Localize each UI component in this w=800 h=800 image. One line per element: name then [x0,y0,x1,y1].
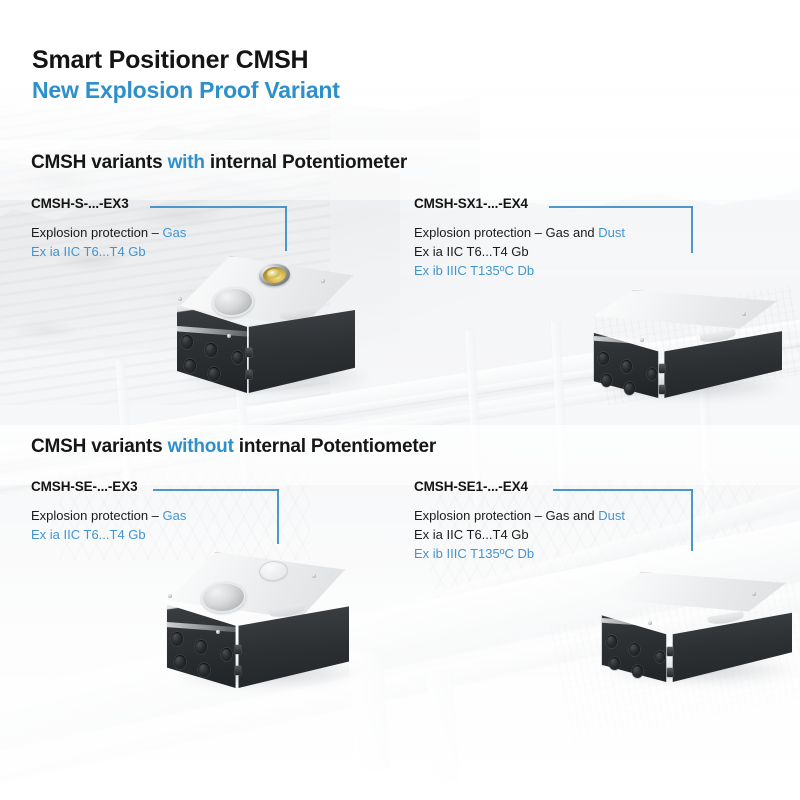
section-heading-without-potentiometer: CMSH variants without internal Potentiom… [31,436,436,458]
device-screw [321,279,325,283]
protection-value: Dust [598,508,625,523]
device-screw [216,630,220,634]
variant-marking-2: Ex ib IIIC T135ºC Db [414,544,625,563]
device-screw [648,621,652,625]
device-terminal-clip [246,370,252,379]
section-heading-pre: CMSH variants [31,436,168,457]
device-screw [227,334,231,338]
variant-code: CMSH-S-...-EX3 [31,196,186,211]
device-terminal-clip [235,666,241,675]
protection-label: Explosion protection – Gas and [414,225,598,240]
device-screw [178,297,182,301]
section-heading-highlight: without [168,436,234,457]
device-terminal-clip [667,668,673,677]
title-subtitle: New Explosion Proof Variant [32,77,340,105]
variant-protection-line: Explosion protection – Gas and Dust [414,506,625,525]
protection-label: Explosion protection – [31,508,163,523]
protection-value: Gas [163,225,187,240]
section-heading-highlight: with [168,152,205,173]
variant-protection-line: Explosion protection – Gas [31,223,186,242]
product-image-cmsh-s-ex3 [175,248,375,393]
product-image-cmsh-se1-ex4 [600,572,800,684]
section-heading-post: internal Potentiometer [234,436,436,457]
variant-spec-lines: Explosion protection – Gas Ex ia IIC T6.… [31,506,186,544]
device-terminal-clip [659,364,665,373]
section-heading-post: internal Potentiometer [205,152,407,173]
variant-spec-lines: Explosion protection – Gas and Dust Ex i… [414,506,625,564]
variant-protection-line: Explosion protection – Gas and Dust [414,223,625,242]
variant-code: CMSH-SE-...-EX3 [31,479,186,494]
device-terminal-clip [659,385,665,394]
variant-spec-lines: Explosion protection – Gas and Dust Ex i… [414,223,625,281]
variant-label-cmsh-sx1-ex4: CMSH-SX1-...-EX4 Explosion protection – … [414,196,625,281]
poster-canvas: Smart Positioner CMSH New Explosion Proo… [0,0,800,800]
title-main: Smart Positioner CMSH [32,46,340,76]
variant-code: CMSH-SE1-...-EX4 [414,479,625,494]
device-terminal-clip [235,645,241,654]
protection-label: Explosion protection – [31,225,163,240]
device-screw [168,594,172,598]
variant-label-cmsh-se1-ex4: CMSH-SE1-...-EX4 Explosion protection – … [414,479,625,564]
poster-title: Smart Positioner CMSH New Explosion Proo… [32,46,340,104]
section-heading-with-potentiometer: CMSH variants with internal Potentiomete… [31,152,407,174]
device-screw [742,312,746,316]
variant-marking-1: Ex ia IIC T6...T4 Gb [414,525,625,544]
device-screw [752,592,756,596]
variant-code: CMSH-SX1-...-EX4 [414,196,625,211]
device-terminal-clip [667,647,673,656]
variant-marking-1: Ex ia IIC T6...T4 Gb [31,242,186,261]
protection-value: Gas [163,508,187,523]
device-terminal-clip [246,348,252,357]
variant-spec-lines: Explosion protection – Gas Ex ia IIC T6.… [31,223,186,261]
variant-marking-1: Ex ia IIC T6...T4 Gb [414,242,625,261]
product-image-cmsh-sx1-ex4 [592,290,792,400]
protection-label: Explosion protection – Gas and [414,508,598,523]
device-screw [312,574,316,578]
variant-marking-2: Ex ib IIIC T135ºC Db [414,261,625,280]
product-image-cmsh-se-ex3 [165,548,365,688]
variant-protection-line: Explosion protection – Gas [31,506,186,525]
variant-marking-1: Ex ia IIC T6...T4 Gb [31,525,186,544]
device-screw [640,338,644,342]
protection-value: Dust [598,225,625,240]
section-heading-pre: CMSH variants [31,152,168,173]
